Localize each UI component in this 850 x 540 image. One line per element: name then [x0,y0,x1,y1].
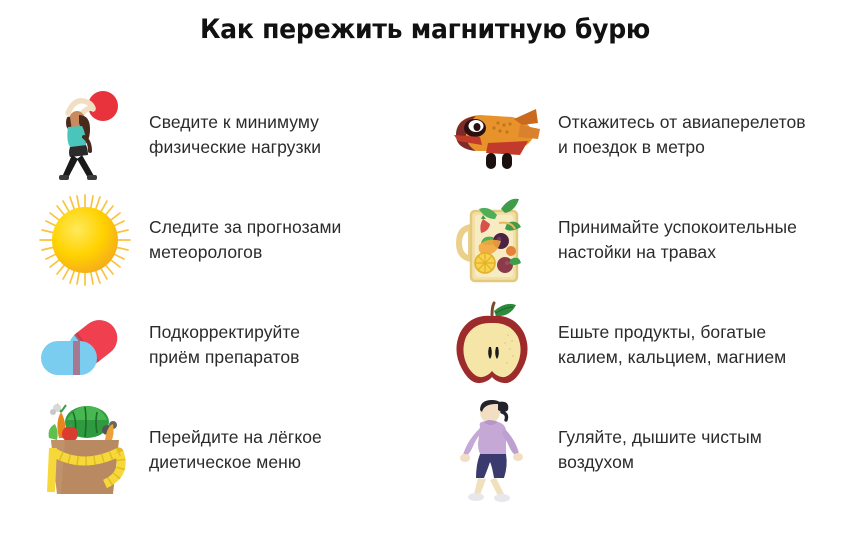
halved-apple-svg [450,301,534,389]
tip-item-walking: Гуляйте, дышите чистым воздухом [425,397,850,502]
tips-grid: Сведите к минимуму физические нагрузки [0,82,850,532]
tip-item-forecast: Следите за прогнозами метеорологов [0,187,425,292]
tip-item-herbal-tea: Принимайте успокоительные настойки на тр… [425,187,850,292]
tip-label: Подкорректируйте приём препаратов [149,320,300,370]
tip-item-nutrients: Ешьте продукты, богатые калием, кальцием… [425,292,850,397]
infographic-page: Как пережить магнитную бурю [0,0,850,540]
airplane-icon [439,82,544,187]
tip-label: Гуляйте, дышите чистым воздухом [558,425,762,475]
sun-svg [38,193,132,287]
sun-icon [32,187,137,292]
airplane-svg [442,95,542,175]
herbal-tea-mug-svg [449,193,535,287]
tip-label: Следите за прогнозами метеорологов [149,215,341,265]
grocery-bag-svg [35,400,135,500]
tip-label: Ешьте продукты, богатые калием, кальцием… [558,320,786,370]
woman-exercising-with-ball-svg [46,89,124,181]
walking-woman-svg [450,398,534,502]
tip-item-air-travel: Откажитесь от авиаперелетов и поездок в … [425,82,850,187]
walking-woman-icon [439,397,544,502]
tip-item-medication: Подкорректируйте приём препаратов [0,292,425,397]
tip-item-exercise: Сведите к минимуму физические нагрузки [0,82,425,187]
page-title: Как пережить магнитную бурю [30,14,821,45]
tip-label: Откажитесь от авиаперелетов и поездок в … [558,110,806,160]
halved-apple-icon [439,292,544,397]
woman-exercising-with-ball-icon [32,82,137,187]
pills-capsules-icon [32,292,137,397]
grocery-bag-with-measuring-tape-icon [32,397,137,502]
tip-label: Сведите к минимуму физические нагрузки [149,110,321,160]
tip-item-diet: Перейдите на лёгкое диетическое меню [0,397,425,502]
pills-capsules-svg [37,305,133,385]
tip-label: Принимайте успокоительные настойки на тр… [558,215,797,265]
herbal-tea-mug-icon [439,187,544,292]
tip-label: Перейдите на лёгкое диетическое меню [149,425,322,475]
